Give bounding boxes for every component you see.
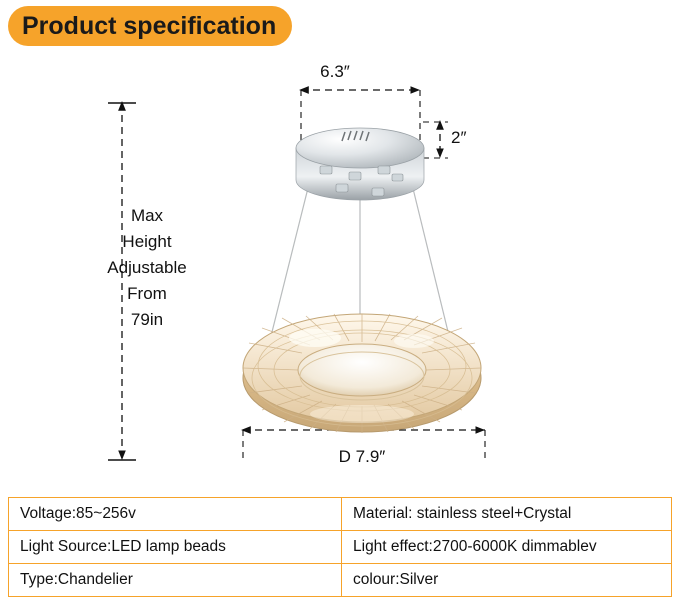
max-height-line-1: Max	[98, 203, 196, 229]
spec-cell-type: Type:Chandelier	[9, 564, 342, 597]
max-height-line-5: 79in	[98, 307, 196, 333]
max-height-line-3: Adjustable	[98, 255, 196, 281]
canopy-height-dimension-label: 2″	[451, 128, 466, 148]
spec-cell-colour: colour:Silver	[342, 564, 672, 597]
max-height-line-4: From	[98, 281, 196, 307]
top-width-dimension-label: 6.3″	[320, 62, 350, 82]
max-height-line-2: Height	[98, 229, 196, 255]
specification-table: Voltage:85~256v Material: stainless stee…	[8, 497, 672, 597]
table-row: Type:Chandelier colour:Silver	[9, 564, 672, 597]
spec-cell-voltage: Voltage:85~256v	[9, 498, 342, 531]
bottom-diameter-dimension-label: D 7.9″	[339, 447, 386, 467]
product-specification-badge: Product specification	[8, 6, 292, 46]
spec-cell-material: Material: stainless steel+Crystal	[342, 498, 672, 531]
max-height-dimension-label: Max Height Adjustable From 79in	[98, 203, 196, 333]
product-dimension-diagram: 6.3″ 2″ D 7.9″ Max Height Adjustable Fro…	[0, 48, 679, 488]
spec-cell-light-effect: Light effect:2700-6000K dimmablev	[342, 531, 672, 564]
page-title: Product specification	[22, 12, 276, 41]
spec-cell-light-source: Light Source:LED lamp beads	[9, 531, 342, 564]
table-row: Voltage:85~256v Material: stainless stee…	[9, 498, 672, 531]
table-row: Light Source:LED lamp beads Light effect…	[9, 531, 672, 564]
